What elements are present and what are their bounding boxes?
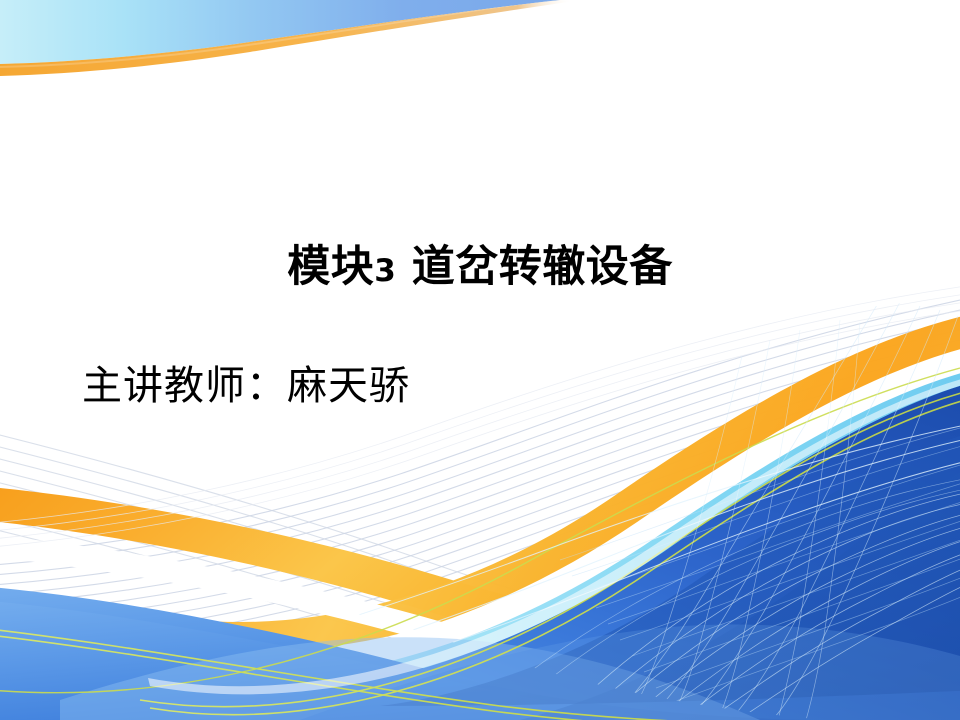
title-module-number: 3 [374,253,396,289]
title-suffix: 道岔转辙设备 [396,242,672,292]
slide-canvas: 模块3 道岔转辙设备 主讲教师：麻天骄 [0,0,960,720]
subtitle-instructor-name: 麻天骄 [287,363,410,409]
title-prefix: 模块 [287,242,374,292]
slide-subtitle: 主讲教师：麻天骄 [82,362,410,410]
slide-title: 模块3 道岔转辙设备 [0,243,960,292]
subtitle-label: 主讲教师： [82,363,287,409]
text-layer: 模块3 道岔转辙设备 主讲教师：麻天骄 [0,0,960,720]
